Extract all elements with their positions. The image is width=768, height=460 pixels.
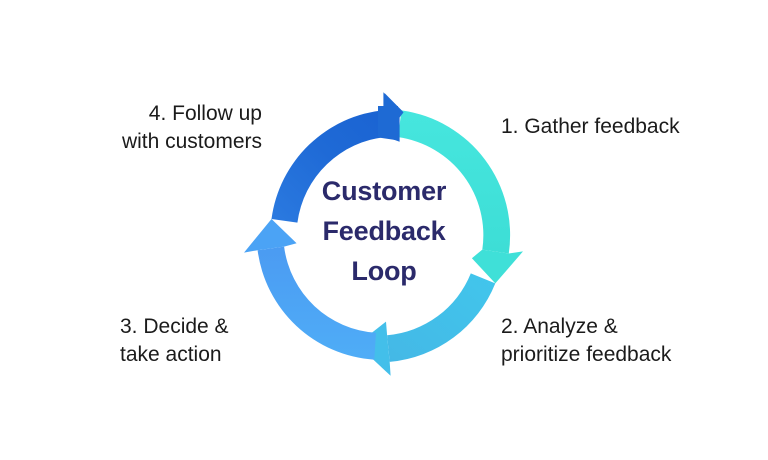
step-label-2-analyze-prioritize-feedback: 2. Analyze & prioritize feedback xyxy=(501,313,671,369)
step-label-1-gather-feedback: 1. Gather feedback xyxy=(501,113,680,141)
step-label-3-decide-take-action: 3. Decide & take action xyxy=(120,313,272,369)
segment-4-follow-up-with-customers xyxy=(272,92,404,222)
feedback-loop-ring-graphic xyxy=(0,0,768,460)
step-label-4-follow-up-with-customers: 4. Follow up with customers xyxy=(86,100,262,156)
customer-feedback-loop-diagram: Customer Feedback Loop 1. Gather feedbac… xyxy=(0,0,768,460)
segment-2-analyze-prioritize-feedback xyxy=(387,273,495,362)
